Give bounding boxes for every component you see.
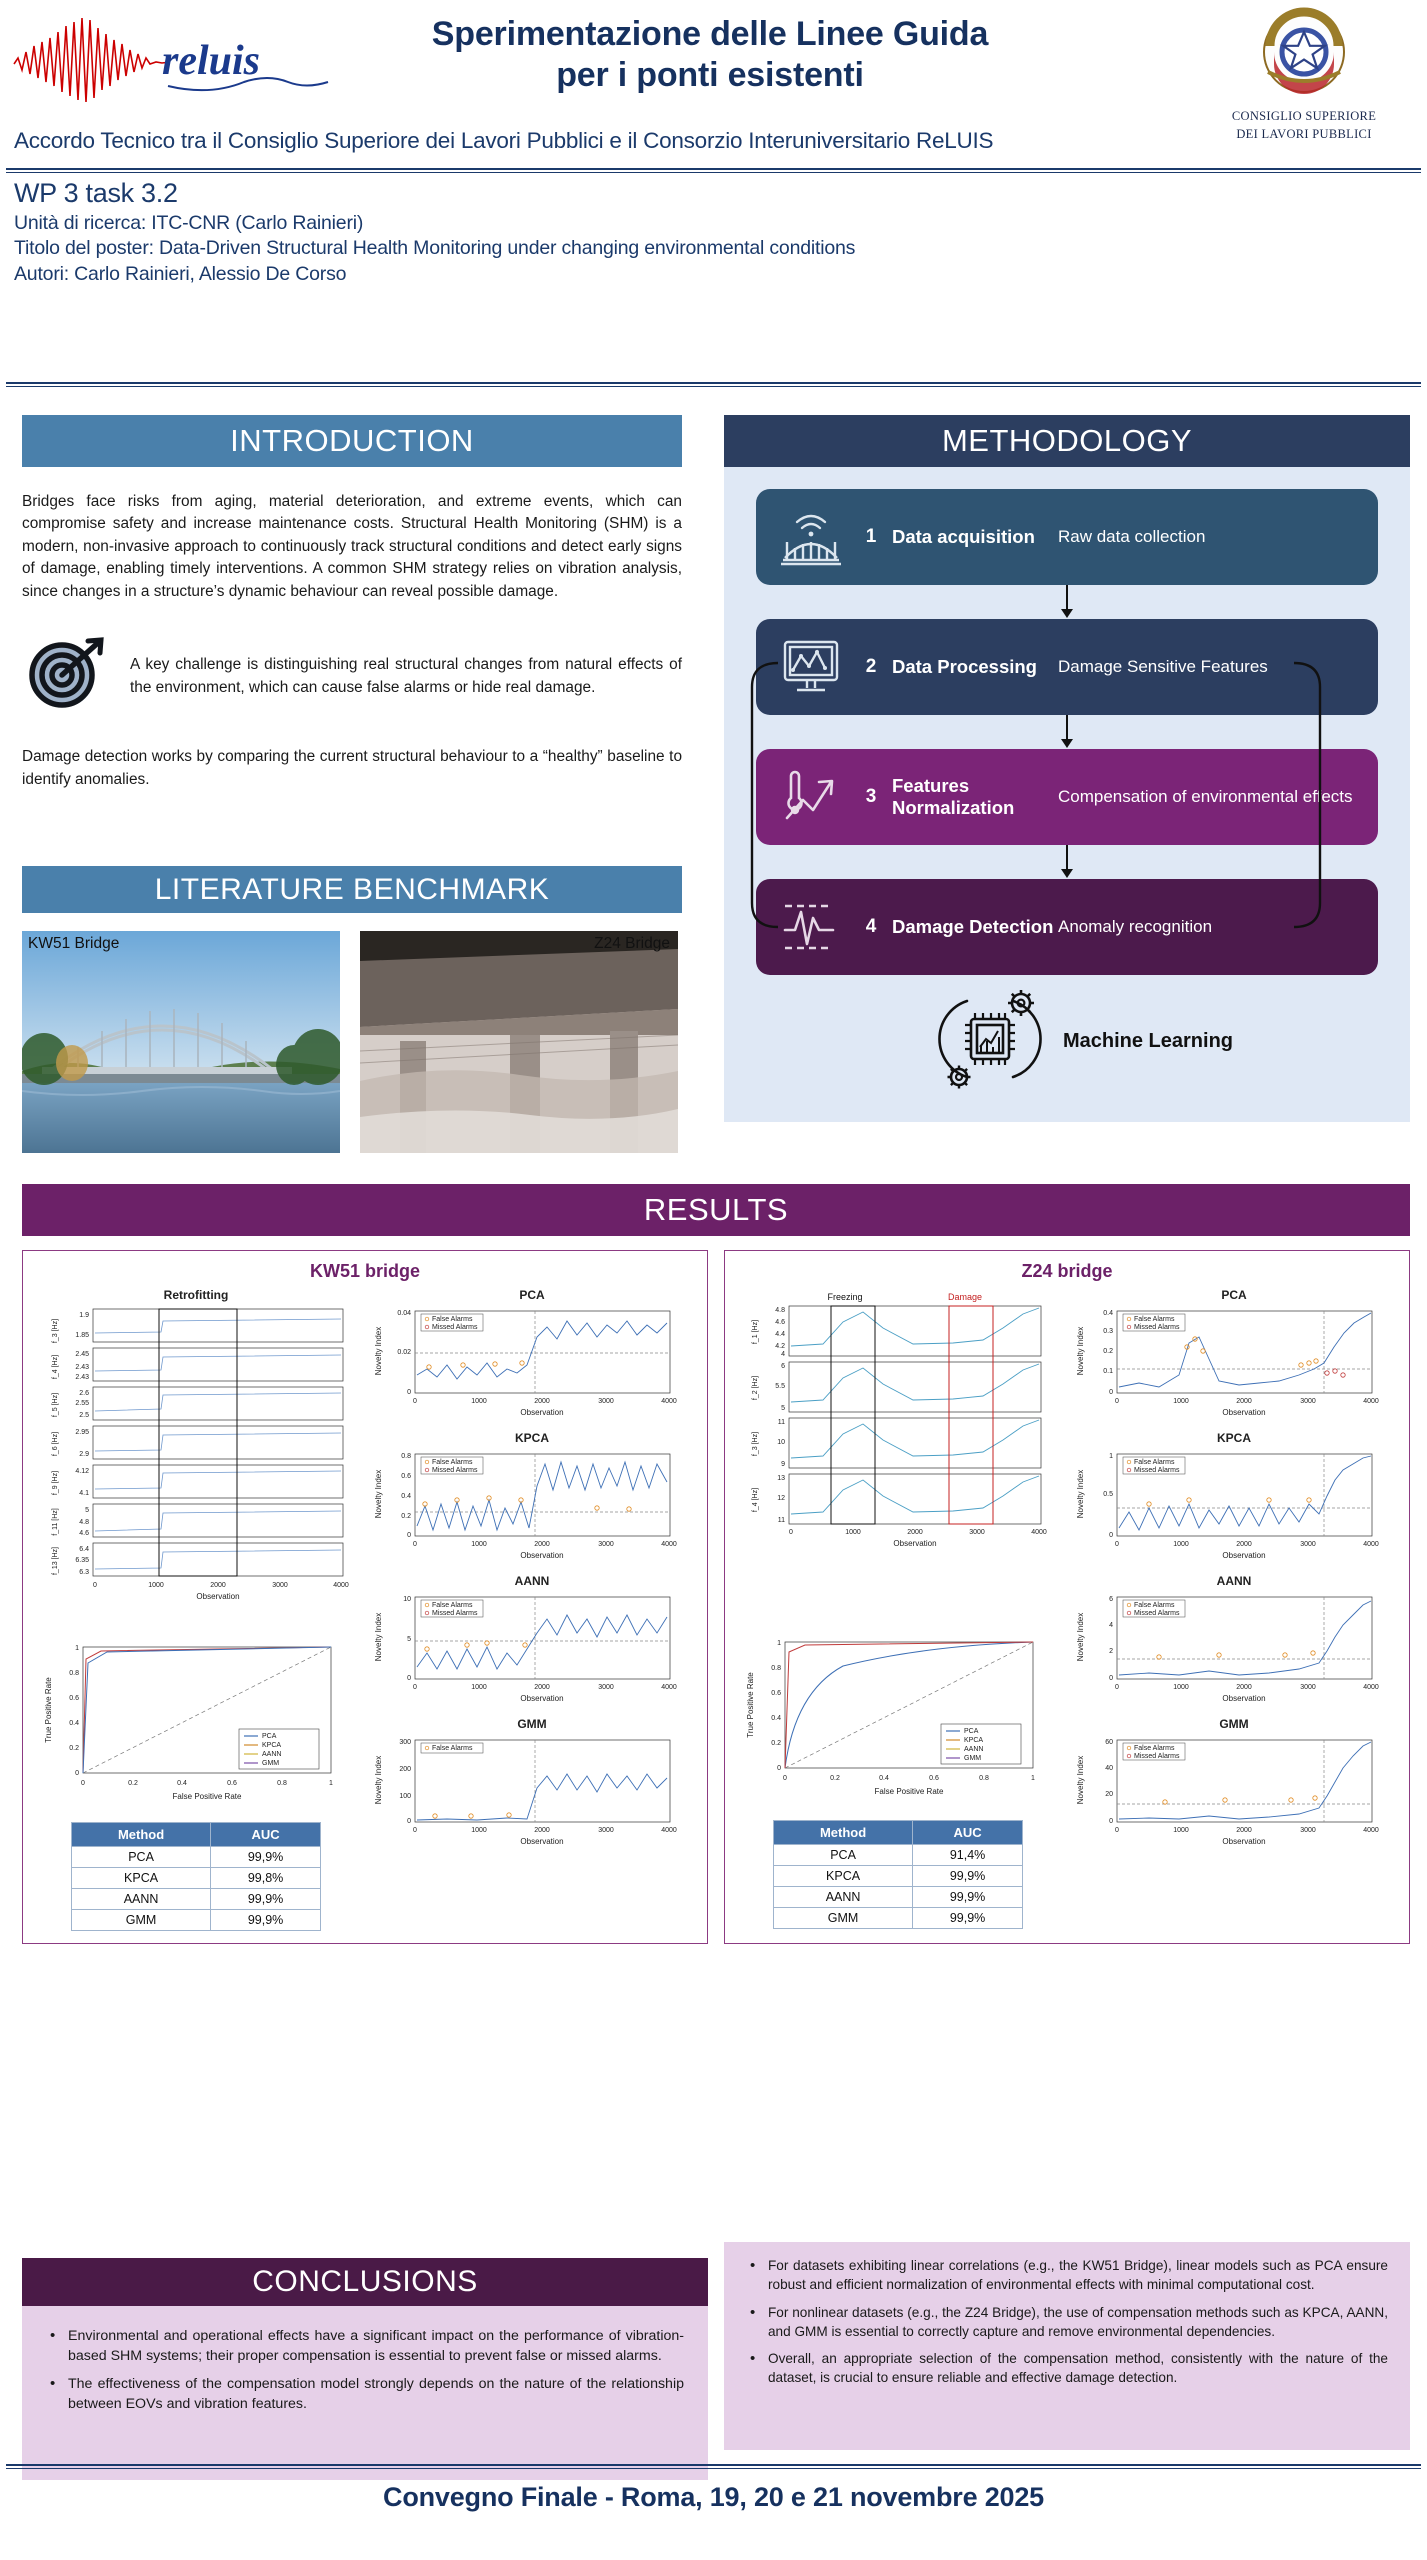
svg-text:2: 2 [1109,1648,1113,1655]
svg-text:11: 11 [778,1517,785,1524]
svg-text:2000: 2000 [1236,1398,1252,1405]
svg-text:False Positive Rate: False Positive Rate [875,1787,944,1796]
svg-text:3000: 3000 [1300,1398,1316,1405]
svg-text:0.2: 0.2 [830,1775,840,1782]
svg-text:1: 1 [1109,1453,1113,1460]
wp-title: WP 3 task 3.2 [14,178,1264,209]
svg-text:Missed Alarms: Missed Alarms [1134,1467,1180,1474]
svg-text:4000: 4000 [661,1827,677,1834]
flow-arrow-1 [756,585,1378,619]
svg-text:0: 0 [1109,1389,1113,1396]
svg-text:f_5 [Hz]: f_5 [Hz] [52,1393,59,1417]
svg-text:60: 60 [1105,1739,1113,1746]
svg-text:1000: 1000 [471,1541,487,1548]
svg-text:0: 0 [407,1532,411,1539]
reluis-logo: reluis [10,12,350,108]
svg-text:False Alarms: False Alarms [1134,1745,1175,1752]
svg-text:reluis: reluis [162,38,260,84]
svg-text:0: 0 [1109,1818,1113,1825]
svg-text:f_3 [Hz]: f_3 [Hz] [52,1319,59,1343]
svg-text:Novelty Index: Novelty Index [374,1327,383,1375]
svg-text:True Positive Rate: True Positive Rate [746,1672,755,1738]
header-subtitle: Accordo Tecnico tra il Consiglio Superio… [14,128,1414,154]
methodology-step-1-number: 1 [850,526,892,548]
svg-text:0: 0 [407,1675,411,1682]
results-banner: RESULTS [22,1184,1410,1236]
svg-text:0: 0 [407,1818,411,1825]
svg-text:2000: 2000 [534,1827,550,1834]
svg-text:Missed Alarms: Missed Alarms [432,1610,478,1617]
svg-text:Observation: Observation [1222,1408,1265,1417]
table-row: GMM 99,9% [72,1910,321,1931]
svg-text:Observation: Observation [520,1551,563,1560]
svg-text:5: 5 [407,1636,411,1643]
svg-text:Observation: Observation [520,1694,563,1703]
svg-text:1000: 1000 [1173,1541,1189,1548]
svg-text:2.55: 2.55 [75,1400,89,1407]
svg-text:1000: 1000 [471,1684,487,1691]
svg-text:0.2: 0.2 [1103,1348,1113,1355]
svg-text:12: 12 [777,1495,785,1502]
svg-text:f_11 [Hz]: f_11 [Hz] [52,1508,59,1536]
svg-text:2000: 2000 [210,1582,226,1589]
svg-text:Observation: Observation [520,1408,563,1417]
svg-text:0: 0 [1115,1827,1119,1834]
wp-poster-title: Titolo del poster: Data-Driven Structura… [14,236,1264,261]
svg-text:3000: 3000 [598,1684,614,1691]
z24-results-title: Z24 bridge [733,1261,1401,1282]
svg-text:0: 0 [413,1684,417,1691]
svg-text:0.04: 0.04 [397,1310,411,1317]
svg-text:f_4 [Hz]: f_4 [Hz] [752,1488,759,1512]
svg-text:5.5: 5.5 [775,1383,785,1390]
z24-auc-header-method: Method [774,1821,913,1845]
svg-text:0: 0 [407,1389,411,1396]
svg-text:3000: 3000 [598,1827,614,1834]
svg-text:1.9: 1.9 [79,1312,89,1319]
svg-text:KPCA: KPCA [964,1737,983,1744]
svg-text:Missed Alarms: Missed Alarms [432,1324,478,1331]
svg-text:0.2: 0.2 [69,1745,79,1752]
title-line-1: Sperimentazione delle Linee Guida [360,14,1060,55]
svg-text:0: 0 [783,1775,787,1782]
svg-text:False Alarms: False Alarms [1134,1459,1175,1466]
svg-text:300: 300 [399,1739,411,1746]
kw51-bridge-photo: KW51 Bridge [22,931,340,1153]
svg-text:0.5: 0.5 [1103,1491,1113,1498]
svg-text:f_13 [Hz]: f_13 [Hz] [52,1547,59,1575]
svg-text:6.4: 6.4 [79,1546,89,1553]
svg-text:False Alarms: False Alarms [432,1316,473,1323]
introduction-paragraph-2: A key challenge is distinguishing real s… [130,654,682,699]
svg-text:4000: 4000 [661,1684,677,1691]
header-divider-2 [6,382,1421,387]
z24-method-3: GMM [774,1908,913,1929]
svg-text:Novelty Index: Novelty Index [374,1613,383,1661]
svg-text:2.43: 2.43 [75,1364,89,1371]
svg-text:200: 200 [399,1766,411,1773]
conclusions-banner: CONCLUSIONS [22,2258,708,2306]
svg-text:Observation: Observation [196,1592,239,1601]
svg-text:0: 0 [413,1398,417,1405]
literature-benchmark-section: LITERATURE BENCHMARK [22,866,682,1153]
svg-text:11: 11 [778,1419,785,1426]
kw51-pca-title: PCA [367,1288,697,1302]
svg-text:0.4: 0.4 [69,1720,79,1727]
results-panels: KW51 bridge Retrofitting 1.9 1.85 [22,1250,1410,1944]
svg-text:Missed Alarms: Missed Alarms [432,1467,478,1474]
svg-text:Observation: Observation [1222,1837,1265,1846]
svg-text:f_2 [Hz]: f_2 [Hz] [752,1376,759,1400]
svg-text:0.4: 0.4 [771,1715,781,1722]
svg-text:AANN: AANN [964,1746,983,1753]
z24-method-0: PCA [774,1845,913,1866]
target-icon [22,633,114,720]
list-item: For nonlinear datasets (e.g., the Z24 Br… [746,2303,1388,2342]
svg-text:3000: 3000 [1300,1541,1316,1548]
svg-text:Observation: Observation [520,1837,563,1846]
svg-text:4.6: 4.6 [775,1319,785,1326]
table-row: GMM 99,9% [774,1908,1023,1929]
svg-text:4.8: 4.8 [775,1307,785,1314]
csllpp-logo: CONSIGLIO SUPERIORE DEI LAVORI PUBBLICI [1199,6,1409,142]
svg-text:2.9: 2.9 [79,1451,89,1458]
z24-pca-plot: 0.40.3 0.20.10 01000 200030004000 Observ… [1069,1303,1399,1431]
svg-text:0.2: 0.2 [128,1780,138,1787]
svg-text:10: 10 [777,1439,785,1446]
svg-text:GMM: GMM [262,1760,279,1767]
conclusions-right-section: For datasets exhibiting linear correlati… [724,2242,1410,2450]
svg-text:False Alarms: False Alarms [1134,1316,1175,1323]
kw51-gmm-title: GMM [367,1717,697,1731]
svg-text:40: 40 [1105,1765,1113,1772]
svg-text:4.1: 4.1 [79,1490,89,1497]
svg-text:3000: 3000 [272,1582,288,1589]
z24-right-column: PCA [1069,1288,1399,1929]
poster-header: reluis Sperimentazione delle Linee Guida… [0,0,1427,178]
conclusions-left-section: CONCLUSIONS Environmental and operationa… [22,2258,708,2480]
svg-text:AANN: AANN [262,1751,281,1758]
svg-text:Observation: Observation [893,1539,936,1548]
kw51-auc-2: 99,9% [211,1889,321,1910]
z24-kpca-plot: 10.50 01000 200030004000 Observation Nov… [1069,1446,1399,1574]
svg-text:False Positive Rate: False Positive Rate [173,1792,242,1801]
results-section: RESULTS KW51 bridge Retrofitting [22,1184,1410,1944]
poster-footer: Convegno Finale - Roma, 19, 20 e 21 nove… [0,2482,1427,2513]
svg-text:4000: 4000 [1363,1398,1379,1405]
svg-text:KPCA: KPCA [262,1742,281,1749]
svg-text:False Alarms: False Alarms [432,1745,473,1752]
svg-text:0.4: 0.4 [879,1775,889,1782]
svg-text:2000: 2000 [534,1541,550,1548]
machine-learning-row: Machine Learning [756,987,1378,1096]
svg-text:1: 1 [329,1780,333,1787]
svg-text:5: 5 [85,1507,89,1514]
kw51-kpca-plot: 0.80.6 0.40.20 01000 200030004000 Observ… [367,1446,697,1574]
svg-text:4.2: 4.2 [775,1343,785,1350]
svg-text:Observation: Observation [1222,1694,1265,1703]
header-divider-1 [6,168,1421,173]
svg-text:0.8: 0.8 [979,1775,989,1782]
svg-text:GMM: GMM [964,1755,981,1762]
svg-text:0.1: 0.1 [1103,1368,1113,1375]
kw51-retrofitting-label: Retrofitting [31,1288,361,1302]
svg-text:4000: 4000 [1031,1529,1047,1536]
svg-text:0.2: 0.2 [401,1513,411,1520]
list-item: For datasets exhibiting linear correlati… [746,2256,1388,2295]
svg-text:1000: 1000 [471,1827,487,1834]
svg-text:2.45: 2.45 [75,1351,89,1358]
introduction-banner: INTRODUCTION [22,415,682,467]
z24-roc-plot: 10.8 0.60.4 0.20 00.2 0.40.6 0.81 False … [733,1632,1063,1810]
svg-text:Novelty Index: Novelty Index [374,1756,383,1804]
italian-emblem-icon [1199,6,1409,102]
svg-text:1: 1 [777,1640,781,1647]
svg-text:True Positive Rate: True Positive Rate [44,1677,53,1743]
table-row: PCA 91,4% [774,1845,1023,1866]
z24-left-column: Freezing Damage 4.84.6 4.44.2 4 f_1 [Hz] [733,1288,1063,1929]
poster-title: Sperimentazione delle Linee Guida per i … [360,14,1060,97]
title-line-2: per i ponti esistenti [360,55,1060,96]
z24-method-1: KPCA [774,1866,913,1887]
svg-text:1000: 1000 [471,1398,487,1405]
footer-divider [6,2464,1421,2469]
kw51-results-title: KW51 bridge [31,1261,699,1282]
list-item: Environmental and operational effects ha… [46,2326,684,2366]
bridge-wifi-icon [772,506,850,568]
kw51-method-2: AANN [72,1889,211,1910]
svg-text:0: 0 [1109,1675,1113,1682]
svg-text:3000: 3000 [1300,1684,1316,1691]
svg-text:False Alarms: False Alarms [432,1459,473,1466]
svg-text:4.4: 4.4 [775,1331,785,1338]
kw51-auc-header-method: Method [72,1823,211,1847]
svg-text:0.02: 0.02 [397,1349,411,1356]
z24-aann-title: AANN [1069,1574,1399,1588]
svg-text:Novelty Index: Novelty Index [1076,1327,1085,1375]
svg-text:0: 0 [777,1765,781,1772]
z24-auc-3: 99,9% [913,1908,1023,1929]
z24-gmm-title: GMM [1069,1717,1399,1731]
z24-photo-label: Z24 Bridge [594,935,670,953]
svg-text:4.8: 4.8 [79,1519,89,1526]
svg-text:2000: 2000 [1236,1541,1252,1548]
svg-text:20: 20 [1105,1791,1113,1798]
svg-text:0.6: 0.6 [929,1775,939,1782]
svg-text:0.8: 0.8 [69,1670,79,1677]
svg-text:Missed Alarms: Missed Alarms [1134,1610,1180,1617]
svg-text:4.6: 4.6 [79,1530,89,1537]
kw51-roc-plot: 10.8 0.60.4 0.20 00.2 0.40.6 0.81 False … [31,1637,361,1812]
z24-bridge-photo: Z24 Bridge [360,931,678,1153]
svg-text:Novelty Index: Novelty Index [1076,1470,1085,1518]
literature-banner: LITERATURE BENCHMARK [22,866,682,913]
svg-text:2.95: 2.95 [75,1429,89,1436]
svg-text:0.6: 0.6 [69,1695,79,1702]
kw51-results-panel: KW51 bridge Retrofitting 1.9 1.85 [22,1250,708,1944]
svg-text:0.6: 0.6 [227,1780,237,1787]
introduction-section: INTRODUCTION Bridges face risks from agi… [22,415,682,791]
z24-auc-2: 99,9% [913,1887,1023,1908]
svg-text:0.6: 0.6 [771,1690,781,1697]
z24-pca-title: PCA [1069,1288,1399,1302]
svg-text:0: 0 [789,1529,793,1536]
svg-text:Novelty Index: Novelty Index [1076,1756,1085,1804]
kw51-aann-title: AANN [367,1574,697,1588]
svg-text:2000: 2000 [1236,1684,1252,1691]
list-item: The effectiveness of the compensation mo… [46,2374,684,2414]
ml-bracket [726,653,1346,943]
svg-text:PCA: PCA [262,1733,277,1740]
kw51-right-column: PCA [367,1288,697,1931]
kw51-method-0: PCA [72,1847,211,1868]
svg-text:0.8: 0.8 [277,1780,287,1787]
svg-text:0.3: 0.3 [1103,1328,1113,1335]
key-challenge-row: A key challenge is distinguishing real s… [22,633,682,720]
svg-text:f_4 [Hz]: f_4 [Hz] [52,1355,59,1379]
svg-text:f_6 [Hz]: f_6 [Hz] [52,1432,59,1456]
svg-text:f_3 [Hz]: f_3 [Hz] [752,1432,759,1456]
conclusions-left-body: Environmental and operational effects ha… [22,2306,708,2480]
svg-text:2000: 2000 [1236,1827,1252,1834]
svg-text:0: 0 [1109,1532,1113,1539]
svg-text:1000: 1000 [1173,1827,1189,1834]
svg-text:0.8: 0.8 [771,1665,781,1672]
svg-text:0: 0 [93,1582,97,1589]
svg-text:1: 1 [75,1645,79,1652]
svg-text:PCA: PCA [964,1728,979,1735]
z24-freezing-label: Freezing [827,1292,862,1302]
svg-text:0.4: 0.4 [177,1780,187,1787]
svg-text:6: 6 [781,1363,785,1370]
svg-text:Novelty Index: Novelty Index [374,1470,383,1518]
svg-text:2000: 2000 [534,1684,550,1691]
table-row: AANN 99,9% [72,1889,321,1910]
z24-auc-1: 99,9% [913,1866,1023,1887]
svg-text:4: 4 [781,1351,785,1358]
list-item: Overall, an appropriate selection of the… [746,2349,1388,2388]
kw51-pca-plot: 0.040.020 01000 200030004000 Observation… [367,1303,697,1431]
svg-text:f_1 [Hz]: f_1 [Hz] [752,1320,759,1344]
svg-text:3000: 3000 [1300,1827,1316,1834]
svg-text:False Alarms: False Alarms [432,1602,473,1609]
svg-text:4000: 4000 [1363,1684,1379,1691]
kw51-auc-0: 99,9% [211,1847,321,1868]
z24-auc-table: Method AUC PCA 91,4% KPCA [773,1820,1023,1929]
z24-aann-plot: 64 20 01000 200030004000 Observation Nov… [1069,1589,1399,1717]
svg-text:0.2: 0.2 [771,1740,781,1747]
kw51-method-1: KPCA [72,1868,211,1889]
z24-frequency-plot: Freezing Damage 4.84.6 4.44.2 4 f_1 [Hz] [733,1288,1063,1578]
svg-text:6: 6 [1109,1596,1113,1603]
table-row: KPCA 99,8% [72,1868,321,1889]
svg-text:2.43: 2.43 [75,1374,89,1381]
svg-text:1.85: 1.85 [75,1332,89,1339]
svg-text:6.3: 6.3 [79,1569,89,1576]
svg-text:4000: 4000 [1363,1541,1379,1548]
machine-learning-icon [931,987,1049,1096]
svg-text:0: 0 [75,1770,79,1777]
svg-text:Observation: Observation [1222,1551,1265,1560]
svg-text:0.4: 0.4 [401,1493,411,1500]
svg-text:100: 100 [399,1793,411,1800]
table-row: KPCA 99,9% [774,1866,1023,1887]
svg-text:0.4: 0.4 [1103,1310,1113,1317]
methodology-step-1-desc: Raw data collection [1058,527,1362,546]
svg-text:1000: 1000 [148,1582,164,1589]
kw51-kpca-title: KPCA [367,1431,697,1445]
methodology-banner: METHODOLOGY [724,415,1410,467]
kw51-auc-3: 99,9% [211,1910,321,1931]
conclusions-right-body: For datasets exhibiting linear correlati… [724,2242,1410,2450]
svg-text:4000: 4000 [333,1582,349,1589]
methodology-step-1-name: Data acquisition [892,526,1058,548]
svg-text:1000: 1000 [1173,1398,1189,1405]
svg-text:1: 1 [1031,1775,1035,1782]
svg-text:5: 5 [781,1405,785,1412]
svg-text:4.12: 4.12 [75,1468,89,1475]
svg-text:4: 4 [1109,1622,1113,1629]
z24-auc-0: 91,4% [913,1845,1023,1866]
svg-text:0: 0 [1115,1541,1119,1548]
kw51-photo-label: KW51 Bridge [28,935,119,953]
svg-text:0: 0 [1115,1684,1119,1691]
kw51-left-column: Retrofitting 1.9 1.85 f_3 [Hz] [31,1288,361,1931]
svg-text:10: 10 [403,1596,411,1603]
svg-text:4000: 4000 [661,1398,677,1405]
svg-text:0.6: 0.6 [401,1473,411,1480]
svg-text:False Alarms: False Alarms [1134,1602,1175,1609]
wp-authors: Autori: Carlo Rainieri, Alessio De Corso [14,262,1264,287]
svg-text:2000: 2000 [534,1398,550,1405]
svg-text:Missed Alarms: Missed Alarms [1134,1324,1180,1331]
svg-text:9: 9 [781,1461,785,1468]
svg-text:4000: 4000 [1363,1827,1379,1834]
z24-gmm-plot: 6040 200 01000 200030004000 Observation … [1069,1732,1399,1860]
kw51-aann-plot: 1050 01000 200030004000 Observation Nove… [367,1589,697,1717]
literature-images: KW51 Bridge [22,931,682,1153]
svg-text:0: 0 [413,1541,417,1548]
svg-text:f_9 [Hz]: f_9 [Hz] [52,1471,59,1495]
svg-text:3000: 3000 [969,1529,985,1536]
kw51-auc-1: 99,8% [211,1868,321,1889]
svg-text:0.8: 0.8 [401,1453,411,1460]
methodology-flowchart: 1 Data acquisition Raw data collection [724,467,1410,1122]
kw51-method-3: GMM [72,1910,211,1931]
svg-text:6.35: 6.35 [75,1557,89,1564]
table-row: PCA 99,9% [72,1847,321,1868]
svg-text:0: 0 [81,1780,85,1787]
table-row: AANN 99,9% [774,1887,1023,1908]
svg-text:3000: 3000 [598,1541,614,1548]
svg-text:1000: 1000 [1173,1684,1189,1691]
wp-block: WP 3 task 3.2 Unità di ricerca: ITC-CNR … [14,178,1264,287]
kw51-auc-table: Method AUC PCA 99,9% KPCA [71,1822,321,1931]
introduction-paragraph-1: Bridges face risks from aging, material … [22,491,682,603]
z24-kpca-title: KPCA [1069,1431,1399,1445]
svg-text:0: 0 [413,1827,417,1834]
kw51-gmm-plot: 300200 1000 01000 200030004000 Observati… [367,1732,697,1860]
z24-method-2: AANN [774,1887,913,1908]
wp-unit: Unità di ricerca: ITC-CNR (Carlo Rainier… [14,211,1264,236]
z24-damage-label: Damage [948,1292,982,1302]
kw51-auc-header-auc: AUC [211,1823,321,1847]
methodology-section: METHODOLOGY [724,415,1410,1122]
kw51-frequency-plot: 1.9 1.85 f_3 [Hz] 2.45 2.43 2.43 [31,1303,361,1633]
svg-text:1000: 1000 [845,1529,861,1536]
svg-text:2.6: 2.6 [79,1390,89,1397]
svg-text:3000: 3000 [598,1398,614,1405]
